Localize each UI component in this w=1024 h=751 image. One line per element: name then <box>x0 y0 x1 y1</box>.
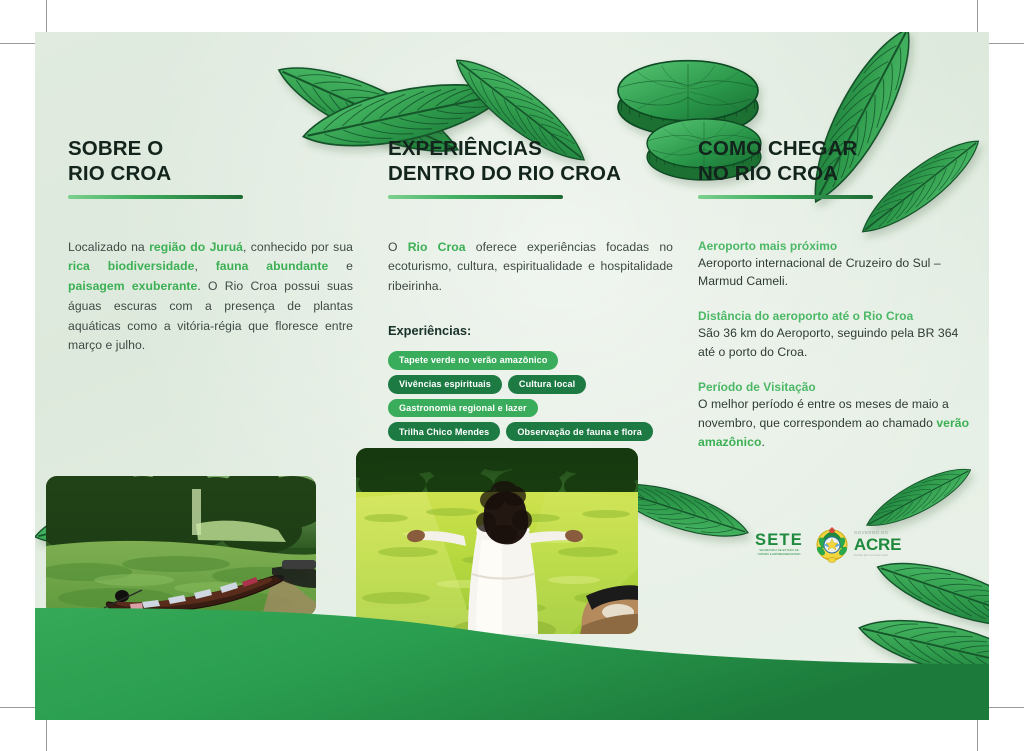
paragraph-sobre: Localizado na região do Juruá, conhecido… <box>68 238 353 357</box>
content-columns: SOBRE O RIO CROA Localizado na região do… <box>35 32 989 720</box>
info-block-aeroporto: Aeroporto mais próximo Aeroporto interna… <box>698 239 970 292</box>
heading-line-2: RIO CROA <box>68 162 171 185</box>
column-experiencias: EXPERIÊNCIAS DENTRO DO RIO CROA O Rio Cr… <box>388 136 673 441</box>
heading-rule-experiencias <box>388 195 563 199</box>
tag-row: Tapete verde no verão amazônico <box>388 351 558 370</box>
acre-wordmark-group: GOVERNO DO ACRE Juntos por um novo Acre <box>854 531 901 558</box>
highlight-rio-croa: Rio Croa <box>408 240 466 254</box>
info-block-text: São 36 km do Aeroporto, seguindo pela BR… <box>698 324 970 362</box>
info-block-text: Aeroporto internacional de Cruzeiro do S… <box>698 254 970 292</box>
info-block-title: Distância do aeroporto até o Rio Croa <box>698 309 970 323</box>
text-run: , conhecido por sua <box>243 240 353 254</box>
heading-line-1: EXPERIÊNCIAS <box>388 137 542 160</box>
experience-tag[interactable]: Vivências espirituais <box>388 375 502 394</box>
heading-rule-sobre <box>68 195 243 199</box>
info-block-periodo: Período de Visitação O melhor período é … <box>698 380 970 452</box>
column-sobre-rio-croa: SOBRE O RIO CROA Localizado na região do… <box>68 136 353 356</box>
acre-wordmark: ACRE <box>854 536 901 553</box>
sete-logo: SETE SECRETARIA DE ESTADO DE TURISMO E E… <box>755 532 803 557</box>
experience-tag[interactable]: Gastronomia regional e lazer <box>388 399 538 418</box>
sete-wordmark: SETE <box>755 532 803 549</box>
experiences-label: Experiências: <box>388 323 673 338</box>
text-run: O <box>388 240 408 254</box>
info-block-text: O melhor período é entre os meses de mai… <box>698 395 970 452</box>
highlight-regiao-jurua: região do Juruá <box>149 240 243 254</box>
acre-tagline: Juntos por um novo Acre <box>854 555 901 558</box>
acre-coat-of-arms-icon <box>815 525 849 563</box>
heading-rule-como-chegar <box>698 195 873 199</box>
highlight-fauna-abundante: fauna abundante <box>216 259 329 273</box>
highlight-paisagem-exuberante: paisagem exuberante <box>68 279 197 293</box>
experience-tag[interactable]: Trilha Chico Mendes <box>388 422 500 441</box>
text-run: Localizado na <box>68 240 149 254</box>
governo-do-acre-logo: GOVERNO DO ACRE Juntos por um novo Acre <box>815 525 901 563</box>
text-run: O melhor período é entre os meses de mai… <box>698 397 949 430</box>
sete-subtitle-line-2: TURISMO E EMPREENDEDORISMO <box>757 554 800 556</box>
info-block-title: Aeroporto mais próximo <box>698 239 970 253</box>
column-como-chegar: COMO CHEGAR NO RIO CROA Aeroporto mais p… <box>698 136 970 452</box>
paragraph-experiencias: O Rio Croa oferece experiências focadas … <box>388 238 673 297</box>
experience-tag[interactable]: Cultura local <box>508 375 586 394</box>
text-run: , <box>194 259 215 273</box>
text-run: e <box>328 259 353 273</box>
tag-row: Vivências espirituais Cultura local <box>388 375 586 394</box>
heading-line-1: COMO CHEGAR <box>698 137 857 160</box>
info-block-distancia: Distância do aeroporto até o Rio Croa Sã… <box>698 309 970 362</box>
experience-tag[interactable]: Tapete verde no verão amazônico <box>388 351 558 370</box>
info-block-title: Período de Visitação <box>698 380 970 394</box>
tag-row: Trilha Chico Mendes Observação de fauna … <box>388 422 653 441</box>
tag-row: Gastronomia regional e lazer <box>388 399 538 418</box>
page-title-sobre: SOBRE O RIO CROA <box>68 136 353 186</box>
logo-bar: SETE SECRETARIA DE ESTADO DE TURISMO E E… <box>755 525 901 563</box>
page-title-como-chegar: COMO CHEGAR NO RIO CROA <box>698 136 970 186</box>
brochure-page: SOBRE O RIO CROA Localizado na região do… <box>35 32 989 720</box>
highlight-rica-biodiversidade: rica biodiversidade <box>68 259 194 273</box>
text-run: . <box>761 435 764 449</box>
experiences-tag-list: Tapete verde no verão amazônico Vivência… <box>388 351 673 442</box>
page-title-experiencias: EXPERIÊNCIAS DENTRO DO RIO CROA <box>388 136 673 186</box>
heading-line-2: DENTRO DO RIO CROA <box>388 162 621 185</box>
heading-line-2: NO RIO CROA <box>698 162 838 185</box>
heading-line-1: SOBRE O <box>68 137 163 160</box>
experience-tag[interactable]: Observação de fauna e flora <box>506 422 653 441</box>
